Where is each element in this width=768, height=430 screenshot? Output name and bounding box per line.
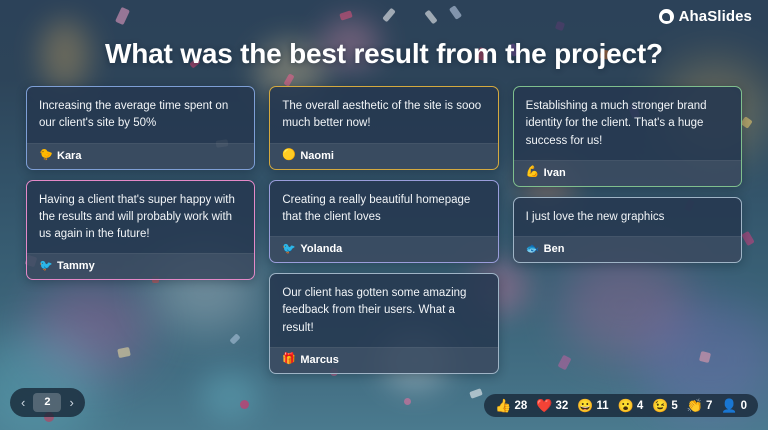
response-author-row: 🐦Yolanda <box>270 236 497 262</box>
reaction-audience[interactable]: 👤0 <box>721 399 747 412</box>
reaction-count: 28 <box>514 400 527 412</box>
response-author-name: Ben <box>544 243 565 255</box>
surprised-icon: 😮 <box>618 399 634 412</box>
avatar-icon: 🐦 <box>282 244 294 255</box>
reaction-thumbs-up[interactable]: 👍28 <box>495 399 527 412</box>
response-column: Establishing a much stronger brand ident… <box>513 86 742 374</box>
response-author-row: 🐤Kara <box>27 143 254 169</box>
response-author-name: Naomi <box>300 150 334 162</box>
response-text: Our client has gotten some amazing feedb… <box>270 274 497 347</box>
response-author-row: 🐟Ben <box>514 236 741 262</box>
pagination: ‹ 2 › <box>10 388 85 417</box>
response-card[interactable]: Increasing the average time spent on our… <box>26 86 255 170</box>
response-author-name: Marcus <box>300 354 339 366</box>
heart-icon: ❤️ <box>536 399 552 412</box>
response-text: The overall aesthetic of the site is soo… <box>270 87 497 143</box>
reactions-bar: 👍28❤️32😀11😮4😉5👏7👤0 <box>484 394 758 417</box>
aha-circle-icon <box>659 9 674 24</box>
slide-canvas: AhaSlides What was the best result from … <box>0 0 768 430</box>
next-page-button[interactable]: › <box>65 392 77 413</box>
avatar-icon: 🎁 <box>282 354 294 365</box>
avatar-icon: 🟡 <box>282 150 294 161</box>
reaction-count: 11 <box>596 400 608 412</box>
audience-icon: 👤 <box>721 399 737 412</box>
reaction-heart[interactable]: ❤️32 <box>536 399 568 412</box>
response-column: The overall aesthetic of the site is soo… <box>269 86 498 374</box>
laugh-icon: 😀 <box>577 399 593 412</box>
reaction-clap[interactable]: 👏7 <box>687 399 713 412</box>
reaction-count: 4 <box>637 400 643 412</box>
page-title: What was the best result from the projec… <box>0 38 768 70</box>
response-text: Having a client that's super happy with … <box>27 181 254 254</box>
reaction-count: 7 <box>706 400 712 412</box>
ahaslides-logo: AhaSlides <box>659 8 752 25</box>
response-text: Increasing the average time spent on our… <box>27 87 254 143</box>
thumbs-up-icon: 👍 <box>495 399 511 412</box>
logo-text: AhaSlides <box>679 8 752 25</box>
response-author-row: 🟡Naomi <box>270 143 497 169</box>
wink-icon: 😉 <box>652 399 668 412</box>
prev-page-button[interactable]: ‹ <box>17 392 29 413</box>
clap-icon: 👏 <box>687 399 703 412</box>
responses-board: Increasing the average time spent on our… <box>26 86 742 374</box>
reaction-laugh[interactable]: 😀11 <box>577 399 608 412</box>
avatar-icon: 🐤 <box>39 150 51 161</box>
avatar-icon: 💪 <box>526 167 538 178</box>
response-card[interactable]: Creating a really beautiful homepage tha… <box>269 180 498 264</box>
response-author-name: Tammy <box>57 260 95 272</box>
reaction-count: 32 <box>555 400 568 412</box>
response-author-row: 💪Ivan <box>514 160 741 186</box>
response-card[interactable]: The overall aesthetic of the site is soo… <box>269 86 498 170</box>
response-author-name: Yolanda <box>300 243 342 255</box>
response-column: Increasing the average time spent on our… <box>26 86 255 374</box>
response-author-row: 🐦Tammy <box>27 253 254 279</box>
response-card[interactable]: Having a client that's super happy with … <box>26 180 255 281</box>
response-card[interactable]: Our client has gotten some amazing feedb… <box>269 273 498 374</box>
reaction-surprised[interactable]: 😮4 <box>618 399 644 412</box>
avatar-icon: 🐦 <box>39 261 51 272</box>
avatar-icon: 🐟 <box>526 244 538 255</box>
reaction-count: 0 <box>741 400 747 412</box>
response-text: Creating a really beautiful homepage tha… <box>270 181 497 237</box>
response-card[interactable]: Establishing a much stronger brand ident… <box>513 86 742 187</box>
response-author-row: 🎁Marcus <box>270 347 497 373</box>
response-author-name: Kara <box>57 150 81 162</box>
reaction-count: 5 <box>671 400 677 412</box>
response-text: Establishing a much stronger brand ident… <box>514 87 741 160</box>
response-author-name: Ivan <box>544 167 566 179</box>
response-card[interactable]: I just love the new graphics🐟Ben <box>513 197 742 263</box>
response-text: I just love the new graphics <box>514 198 741 236</box>
current-page-indicator[interactable]: 2 <box>33 393 61 412</box>
reaction-wink[interactable]: 😉5 <box>652 399 678 412</box>
